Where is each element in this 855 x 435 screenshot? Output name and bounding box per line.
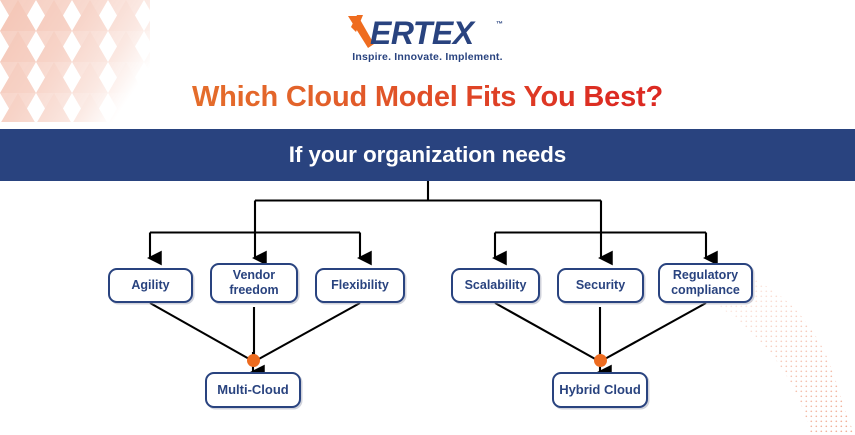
junction-dot-hybrid-cloud <box>594 354 607 367</box>
infographic-canvas: ERTEX ™ Inspire. Innovate. Implement. Wh… <box>0 0 855 435</box>
criteria-label-line-1: Regulatory <box>673 268 738 282</box>
criteria-box-vendor-freedom[interactable]: Vendor freedom <box>210 263 298 303</box>
criteria-label: Agility <box>131 278 169 293</box>
criteria-label: Scalability <box>465 278 527 293</box>
page-title: Which Cloud Model Fits You Best? <box>0 81 855 114</box>
criteria-label-line-1: Vendor <box>233 268 275 282</box>
criteria-box-flexibility[interactable]: Flexibility <box>315 268 405 303</box>
criteria-label: Security <box>576 278 625 293</box>
brand-logo: ERTEX ™ Inspire. Innovate. Implement. <box>0 14 855 72</box>
junction-dot-multi-cloud <box>247 354 260 367</box>
outcome-label: Hybrid Cloud <box>559 382 641 397</box>
brand-tagline: Inspire. Innovate. Implement. <box>352 51 503 63</box>
svg-text:ERTEX: ERTEX <box>370 15 476 50</box>
vertex-logo-icon: ERTEX ™ <box>344 14 512 50</box>
criteria-box-agility[interactable]: Agility <box>108 268 193 303</box>
criteria-box-scalability[interactable]: Scalability <box>451 268 540 303</box>
outcome-label: Multi-Cloud <box>217 382 288 397</box>
criteria-label: Flexibility <box>331 278 389 293</box>
svg-text:™: ™ <box>496 21 503 28</box>
condition-banner-label: If your organization needs <box>289 142 566 168</box>
outcome-box-hybrid-cloud[interactable]: Hybrid Cloud <box>552 372 648 408</box>
criteria-label-line-2: freedom <box>229 283 278 297</box>
criteria-label-line-2: compliance <box>671 283 740 297</box>
criteria-box-regulatory-compliance[interactable]: Regulatory compliance <box>658 263 753 303</box>
criteria-label: Vendor freedom <box>229 268 278 298</box>
outcome-box-multi-cloud[interactable]: Multi-Cloud <box>205 372 301 408</box>
criteria-box-security[interactable]: Security <box>557 268 644 303</box>
condition-banner: If your organization needs <box>0 129 855 181</box>
criteria-label: Regulatory compliance <box>671 268 740 298</box>
